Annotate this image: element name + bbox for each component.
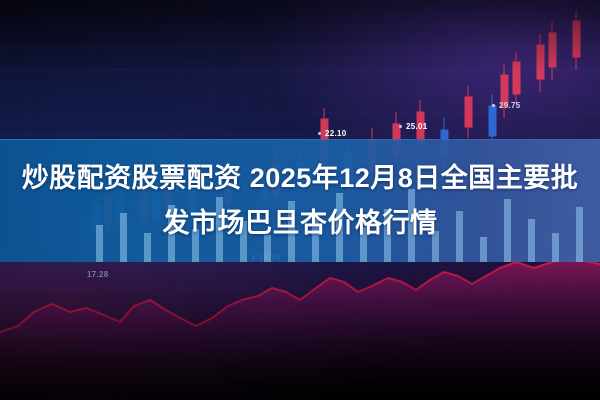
banner-title: 炒股配资股票配资 2025年12月8日全国主要批 发市场巴旦杏价格行情 — [0, 139, 600, 262]
banner-title-line-1: 炒股配资股票配资 2025年12月8日全国主要批 — [22, 156, 579, 201]
banner-title-line-2: 发市场巴旦杏价格行情 — [163, 201, 438, 246]
promo-banner-image: 18.07 18.75 22.10 25.01 29.75 17.28 — [0, 0, 600, 400]
